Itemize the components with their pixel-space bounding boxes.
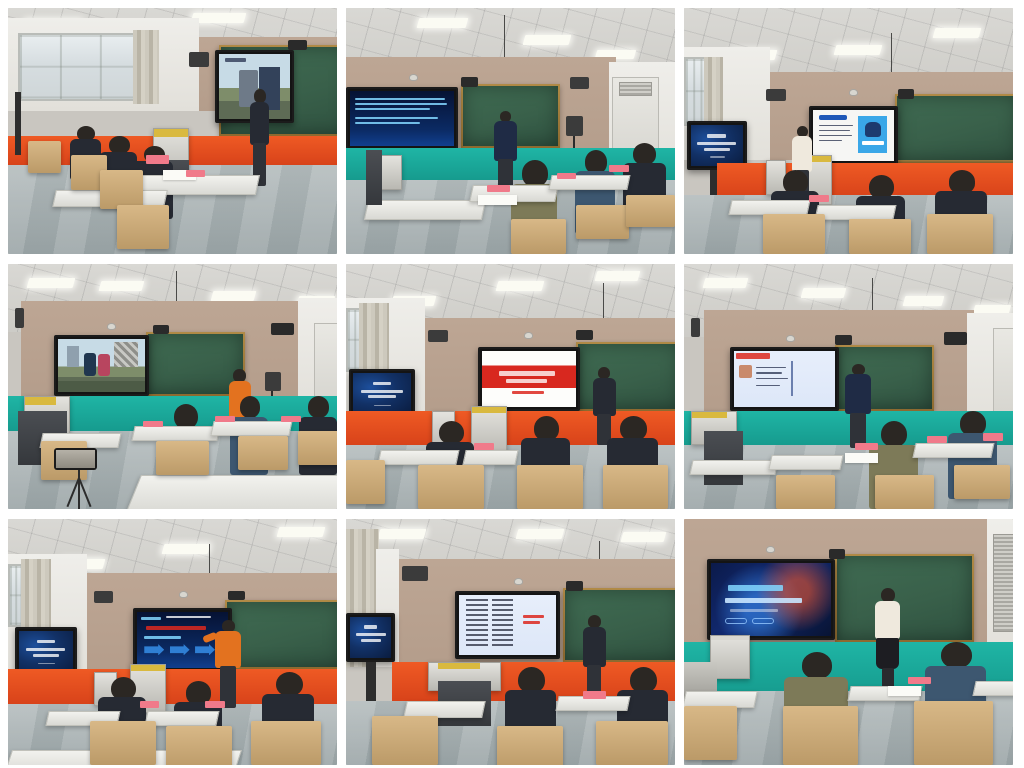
paper [845,453,878,463]
name-card [809,195,829,202]
ceiling-lamp [834,45,883,55]
security-camera [835,335,851,345]
podium-cabinet [704,431,743,485]
slide-portrait [813,110,894,161]
portable-display[interactable] [346,613,395,662]
hanging-wire [603,283,604,317]
smart-display-screen [58,339,145,392]
hanging-wire [891,33,892,77]
chair [418,465,484,509]
name-card [215,416,235,422]
classroom-scene-5 [346,264,675,510]
chair [238,436,287,470]
ceiling-lamp [903,296,945,306]
security-camera [829,549,845,559]
ceiling-lamp [522,35,571,45]
name-card [557,173,577,179]
desk [814,205,896,220]
chair [28,141,61,173]
smart-display-screen [459,595,556,656]
wall-speaker [189,52,209,67]
desk [728,200,810,215]
slide-landscape [58,339,145,392]
chair [117,205,170,249]
chair [156,441,209,475]
name-card [908,677,931,684]
classroom-scene-3 [684,8,1013,254]
chair [626,195,675,227]
speaker-on-stand [265,372,281,392]
ceiling-lamp [99,281,145,291]
dome-camera [786,335,795,342]
ceiling-lamp [191,13,246,23]
security-camera [576,330,592,340]
smart-display-screen [734,351,835,407]
dome-camera [514,578,523,585]
smart-display[interactable] [455,591,560,660]
wall-speaker [15,308,25,328]
ceiling-lamp [621,532,667,542]
chair [251,721,320,765]
dome-camera [524,332,533,339]
chair [372,716,438,765]
smart-display[interactable] [478,347,580,411]
classroom-scene-2 [346,8,675,254]
name-card [583,691,606,698]
desk [768,455,844,470]
chair [954,465,1010,499]
photo-cell-1[interactable] [8,8,337,254]
chair [346,460,385,504]
portable-display-screen [19,631,74,672]
security-camera [288,40,308,50]
podium-cabinet [366,150,382,204]
speaker-on-stand [566,116,582,136]
wall-speaker [94,591,114,603]
curtain [133,30,159,104]
presenter [245,89,275,187]
smart-display[interactable] [346,87,458,151]
chalkboard [835,554,973,642]
photo-cell-6[interactable] [684,264,1013,510]
photo-cell-4[interactable] [8,264,337,510]
security-camera [566,581,582,591]
chair [875,475,934,509]
desk [913,443,995,458]
wall-speaker [428,330,448,342]
chair [576,205,629,239]
chair [90,721,156,765]
portable-display-screen [350,617,391,658]
chair [849,219,912,253]
security-camera [898,89,914,99]
foreground-desk [125,475,337,509]
photo-cell-8[interactable] [346,519,675,765]
slide-document [734,351,835,407]
ceiling-lamp [26,278,75,288]
security-camera [153,325,169,334]
chair [517,465,583,509]
classroom-scene-9 [684,519,1013,765]
dome-camera [179,591,188,598]
chair [596,721,668,765]
name-card [140,701,160,708]
projector [271,323,294,335]
chair [783,706,859,765]
dome-camera [409,74,418,81]
slide-banner [482,351,576,407]
display-stand [15,92,22,156]
projector [944,332,967,344]
chalkboard [895,94,1013,163]
slide-vertical-text [459,595,556,656]
desk [131,426,220,441]
presenter [872,588,905,701]
chair [914,701,993,765]
smart-display-screen [711,563,831,636]
ceiling-lamp [417,18,469,28]
portable-display-screen [353,373,411,414]
desk [210,421,292,436]
door [314,323,337,407]
chair [603,465,669,509]
photo-cell-7[interactable] [8,519,337,765]
security-camera [461,77,477,87]
door [993,328,1013,416]
slide-title [353,373,411,414]
tripod [61,470,100,509]
window [18,33,143,102]
name-card [474,443,494,450]
wall-speaker [691,318,701,338]
name-card [927,436,947,443]
slide-title [19,631,74,672]
chair [166,726,232,765]
slide-title [691,125,742,166]
name-card [143,421,163,427]
desk [689,460,778,475]
chalkboard-surface [897,96,1013,161]
paper [888,686,921,696]
wall-speaker [570,77,590,89]
classroom-scene-1 [8,8,337,254]
dome-camera [107,323,116,330]
ceiling-lamp [496,281,545,291]
name-card [205,701,225,708]
chair [776,475,835,509]
wall-speaker [402,566,428,581]
paper [478,195,517,205]
chair [684,706,737,760]
slide-ai-title [711,563,831,636]
chair [298,431,337,465]
classroom-scene-7 [8,519,337,765]
ceiling-lamp [211,291,257,301]
dome-camera [849,89,858,96]
wall-speaker [766,89,786,101]
chair [497,726,563,765]
desk [377,450,459,465]
chair [100,170,143,209]
smart-display[interactable] [707,559,835,640]
name-card [983,433,1003,440]
name-card [281,416,301,422]
slide-text [350,91,454,147]
name-card [609,165,629,171]
photo-collage [0,0,1024,768]
desk [972,681,1013,696]
chalkboard-surface [837,556,971,640]
name-card [146,155,169,164]
ceiling-lamp [276,527,325,537]
ceiling-lamp [933,28,982,38]
photo-cell-5[interactable] [346,264,675,510]
smart-display-screen [482,351,576,407]
presenter [580,615,610,699]
slide-title [350,617,391,658]
smart-display-screen [350,91,454,147]
smart-display-screen [813,110,894,161]
ceiling-lamp [595,271,641,281]
door-vent [619,82,652,97]
photo-cell-9[interactable] [684,519,1013,765]
classroom-scene-4 [8,264,337,510]
photo-cell-3[interactable] [684,8,1013,254]
smartphone-screen [56,450,95,468]
name-card [186,170,206,177]
ceiling-lamp [161,544,210,554]
desk [463,450,519,465]
name-card [855,443,878,450]
ceiling-lamp [702,278,748,288]
smart-display[interactable] [54,335,149,396]
chair [927,214,993,253]
ceiling-lamp [516,529,565,539]
smartphone-recording[interactable] [54,448,97,470]
name-card [487,185,510,192]
security-camera [228,591,244,601]
ceiling-lamp [801,288,847,298]
wall-vent [993,534,1013,632]
classroom-scene-8 [346,519,675,765]
smart-display[interactable] [730,347,839,411]
portable-display-screen [691,125,742,166]
photo-cell-2[interactable] [346,8,675,254]
ceiling-lamp [377,529,426,539]
chair [511,219,567,253]
chair [763,214,826,253]
classroom-scene-6 [684,264,1013,510]
